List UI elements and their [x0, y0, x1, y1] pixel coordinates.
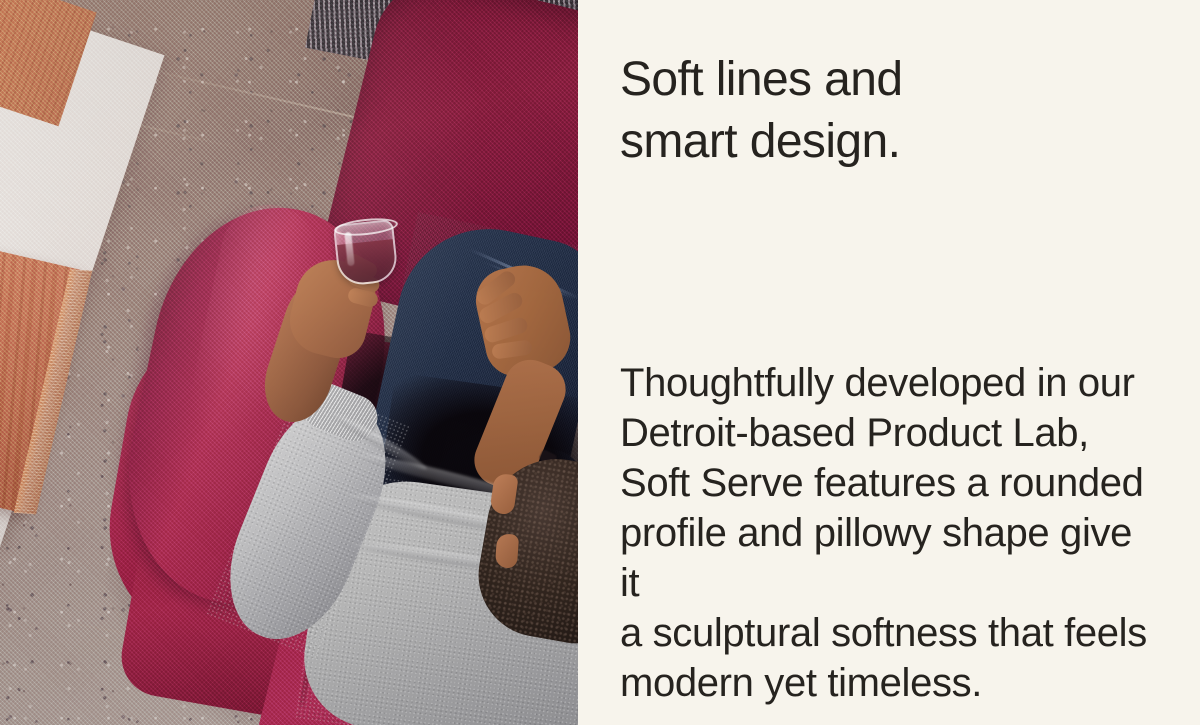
product-photo [0, 0, 578, 725]
page-title: Soft lines and smart design. [620, 49, 1140, 173]
ear-lobe [495, 533, 519, 568]
content-panel: Soft lines and smart design. Thoughtfull… [578, 0, 1200, 725]
photo-scene [0, 0, 578, 725]
seated-person [0, 0, 578, 725]
body-paragraph: Thoughtfully developed in our Detroit-ba… [620, 358, 1160, 708]
product-promo-module: Soft lines and smart design. Thoughtfull… [0, 0, 1200, 725]
